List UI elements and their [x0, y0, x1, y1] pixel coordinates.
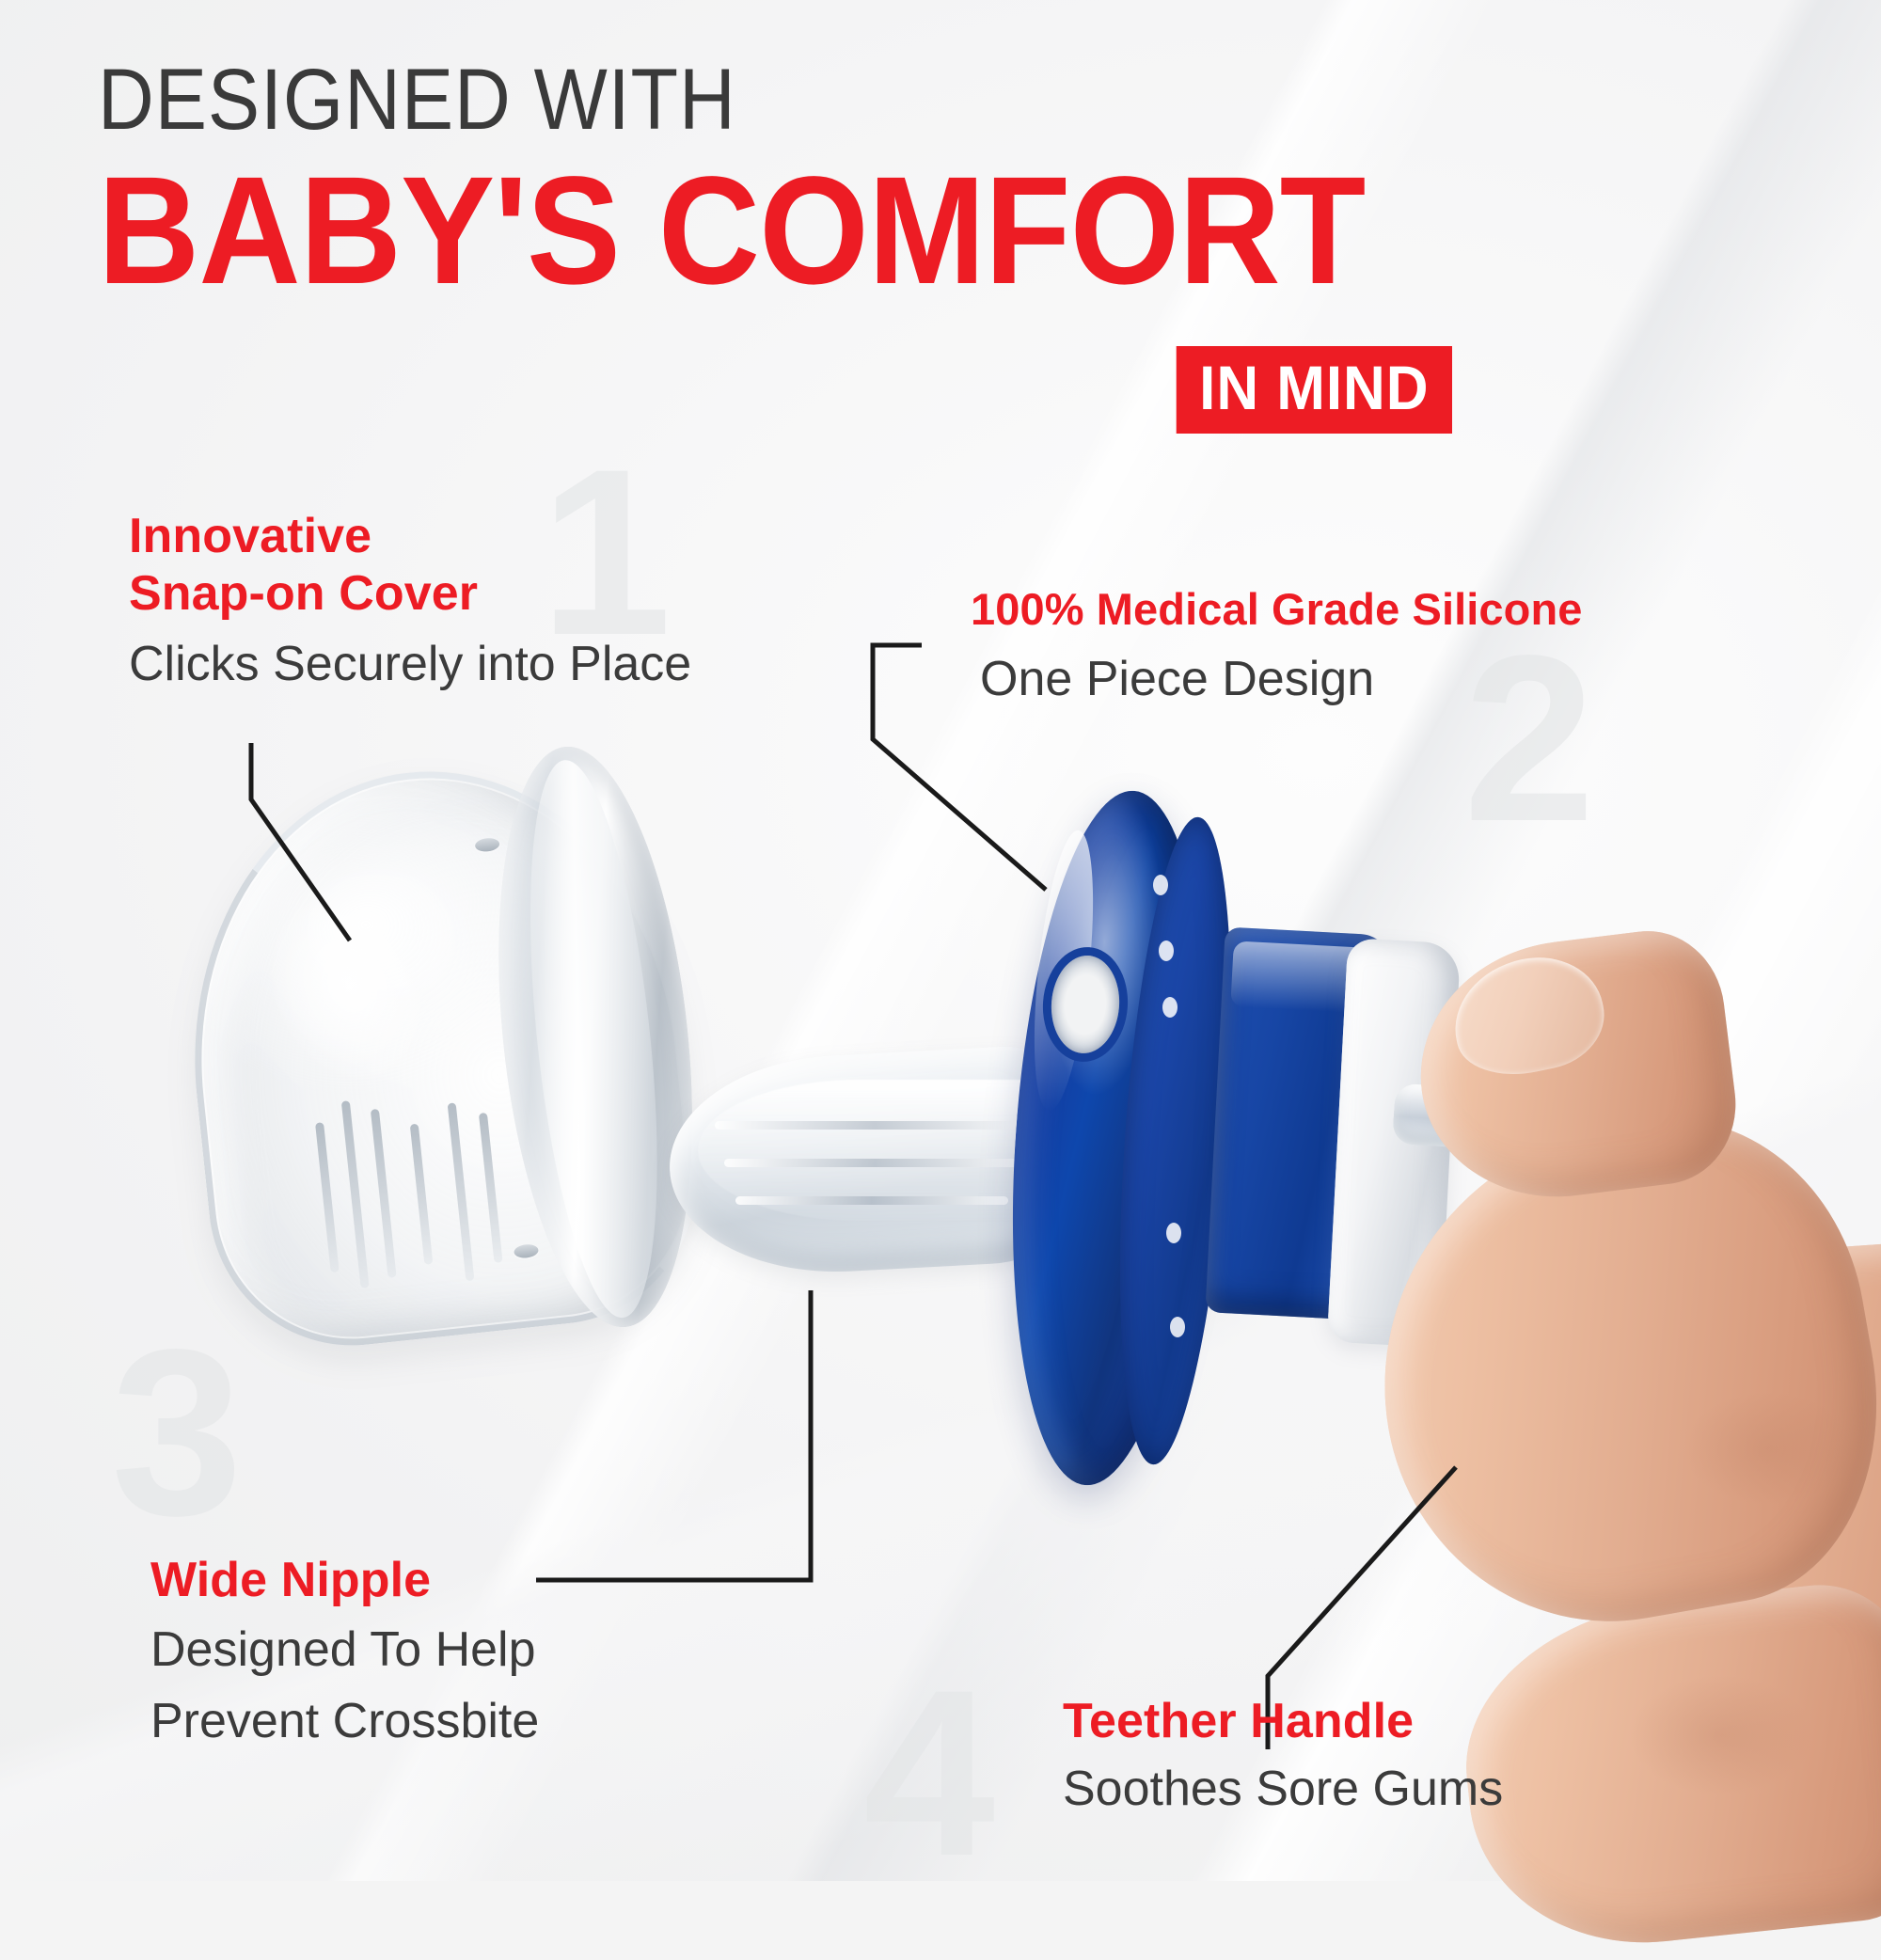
callout-2-title: 100% Medical Grade Silicone: [971, 583, 1583, 635]
callout-4-teether-handle: Teether Handle Soothes Sore Gums: [1063, 1693, 1503, 1819]
callout-3-title: Wide Nipple: [150, 1552, 539, 1609]
callout-3-subtitle-line-1: Designed To Help: [150, 1620, 539, 1680]
callout-1-title-line-2: Snap-on Cover: [129, 565, 691, 623]
knuckle-shading: [1655, 1373, 1881, 1524]
headline-line-2: BABY'S COMFORT: [98, 160, 1326, 301]
callout-3-subtitle-line-2: Prevent Crossbite: [150, 1692, 539, 1751]
headline-line-1: DESIGNED WITH: [98, 58, 1300, 141]
shield-specular-dot: [1170, 1317, 1185, 1337]
shield-specular-dot: [1159, 940, 1174, 961]
callout-4-subtitle: Soothes Sore Gums: [1063, 1760, 1503, 1818]
callout-4-title: Teether Handle: [1063, 1693, 1503, 1750]
callout-2-medical-grade-silicone: 100% Medical Grade Silicone One Piece De…: [971, 583, 1583, 709]
headline-block: DESIGNED WITH BABY'S COMFORT IN MIND: [98, 58, 1433, 301]
callout-1-subtitle: Clicks Securely into Place: [129, 635, 691, 693]
shield-specular-dot: [1162, 997, 1178, 1018]
callout-2-subtitle: One Piece Design: [980, 650, 1583, 708]
headline-badge-in-mind: IN MIND: [1177, 346, 1452, 434]
shield-specular-dot: [1166, 1223, 1181, 1243]
clear-snap-on-cover: [166, 747, 711, 1359]
knuckle-shading: [1599, 1655, 1843, 1815]
nipple-stripe: [715, 1121, 1035, 1130]
nipple-stripe: [735, 1196, 1008, 1205]
callout-1-snap-on-cover: Innovative Snap-on Cover Clicks Securely…: [129, 508, 691, 693]
watermark-number-4: 4: [863, 1655, 995, 1892]
nipple-stripe: [724, 1159, 1025, 1167]
callout-3-wide-nipple: Wide Nipple Designed To Help Prevent Cro…: [150, 1552, 539, 1751]
shield-specular-dot: [1153, 875, 1168, 895]
callout-1-title-line-1: Innovative: [129, 508, 691, 565]
watermark-number-3: 3: [111, 1315, 243, 1552]
